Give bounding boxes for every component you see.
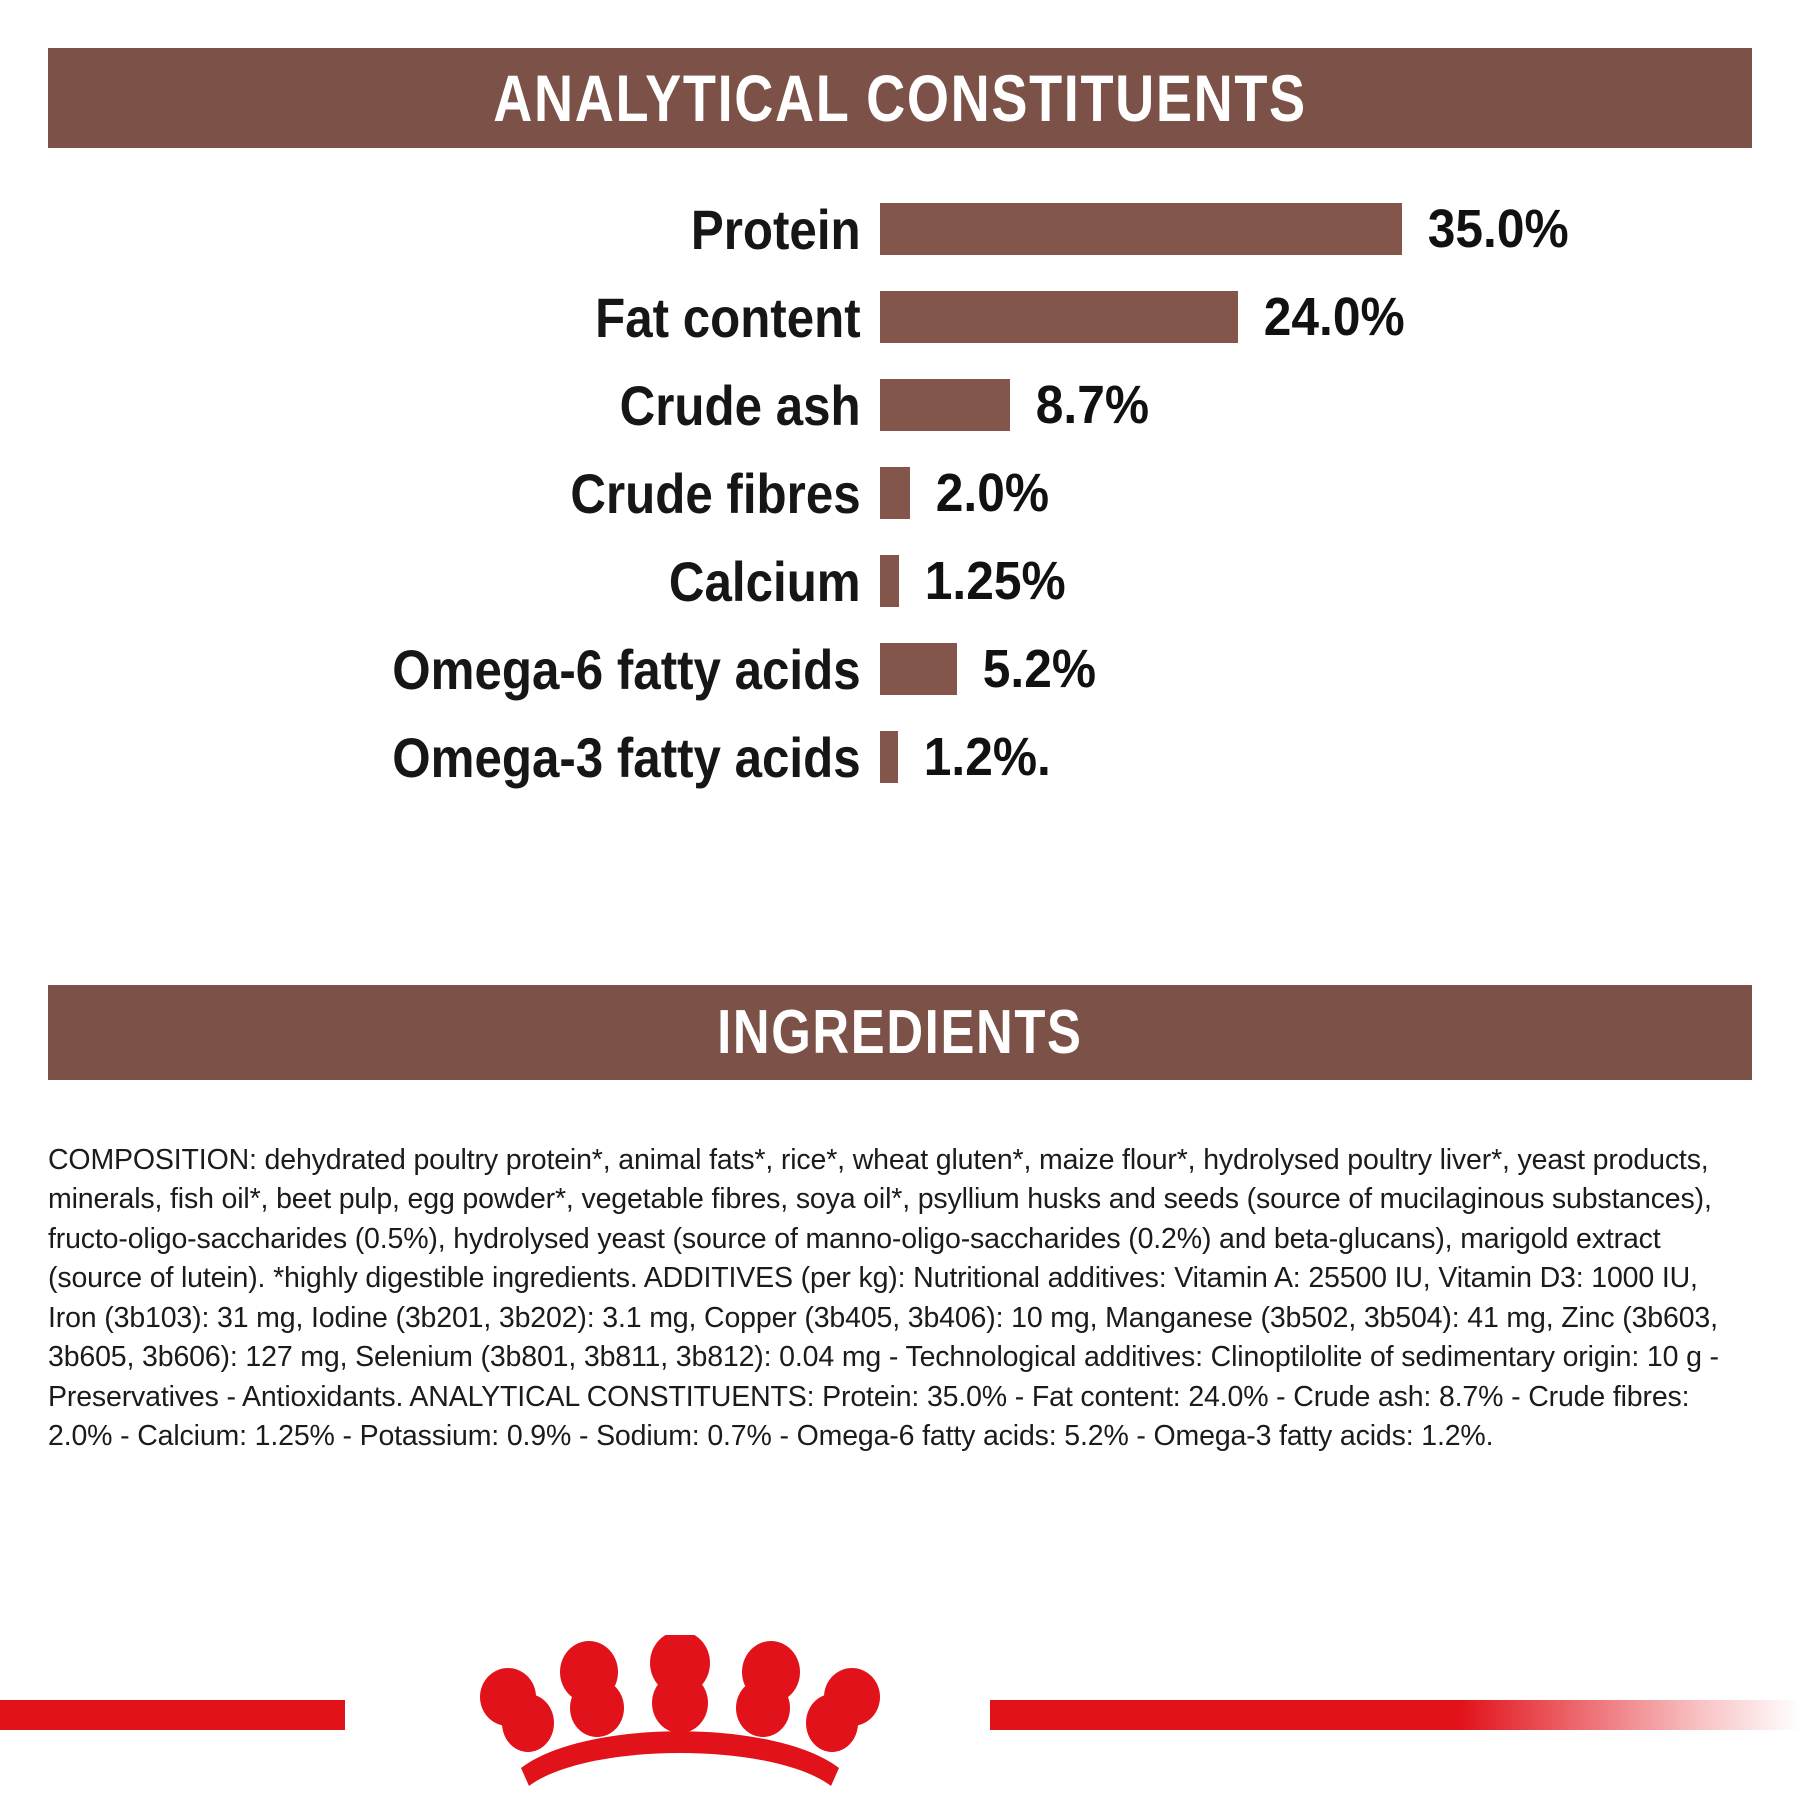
constituent-row: Protein35.0% [0,185,1800,273]
analytical-constituents-banner: ANALYTICAL CONSTITUENTS [48,48,1752,148]
ingredients-banner: INGREDIENTS [48,985,1752,1080]
constituent-bar [880,291,1238,343]
constituent-row: Omega-6 fatty acids5.2% [0,625,1800,713]
constituent-value: 24.0% [1238,286,1405,348]
constituent-label: Crude ash [106,373,880,438]
constituent-label: Fat content [106,285,880,350]
constituent-label: Crude fibres [106,461,880,526]
constituent-value: 8.7% [1010,374,1149,436]
constituent-bar [880,731,898,783]
analytical-constituents-title: ANALYTICAL CONSTITUENTS [493,60,1306,136]
constituent-row: Omega-3 fatty acids1.2%. [0,713,1800,801]
constituent-row: Crude fibres2.0% [0,449,1800,537]
constituent-bar [880,379,1010,431]
constituent-label: Calcium [106,549,880,614]
constituent-bar [880,467,910,519]
constituent-value: 5.2% [957,638,1096,700]
footer-rule-left [0,1700,345,1730]
constituent-bar [880,203,1402,255]
constituent-label: Omega-6 fatty acids [106,637,880,702]
constituent-label: Omega-3 fatty acids [106,725,880,790]
footer-rule-right [990,1700,1800,1730]
constituent-row: Fat content24.0% [0,273,1800,361]
constituent-value: 1.2%. [898,726,1051,788]
constituent-value: 2.0% [910,462,1049,524]
constituent-bar [880,643,957,695]
constituent-row: Crude ash8.7% [0,361,1800,449]
constituent-value: 35.0% [1402,198,1569,260]
composition-paragraph: COMPOSITION: dehydrated poultry protein*… [48,1141,1754,1457]
constituent-label: Protein [106,197,880,262]
constituent-row: Calcium1.25% [0,537,1800,625]
constituent-value: 1.25% [899,550,1066,612]
ingredients-title: INGREDIENTS [717,997,1082,1068]
royal-canin-crown-icon [375,1635,985,1800]
analytical-constituents-chart: Protein35.0%Fat content24.0%Crude ash8.7… [0,185,1800,801]
constituent-bar [880,555,899,607]
